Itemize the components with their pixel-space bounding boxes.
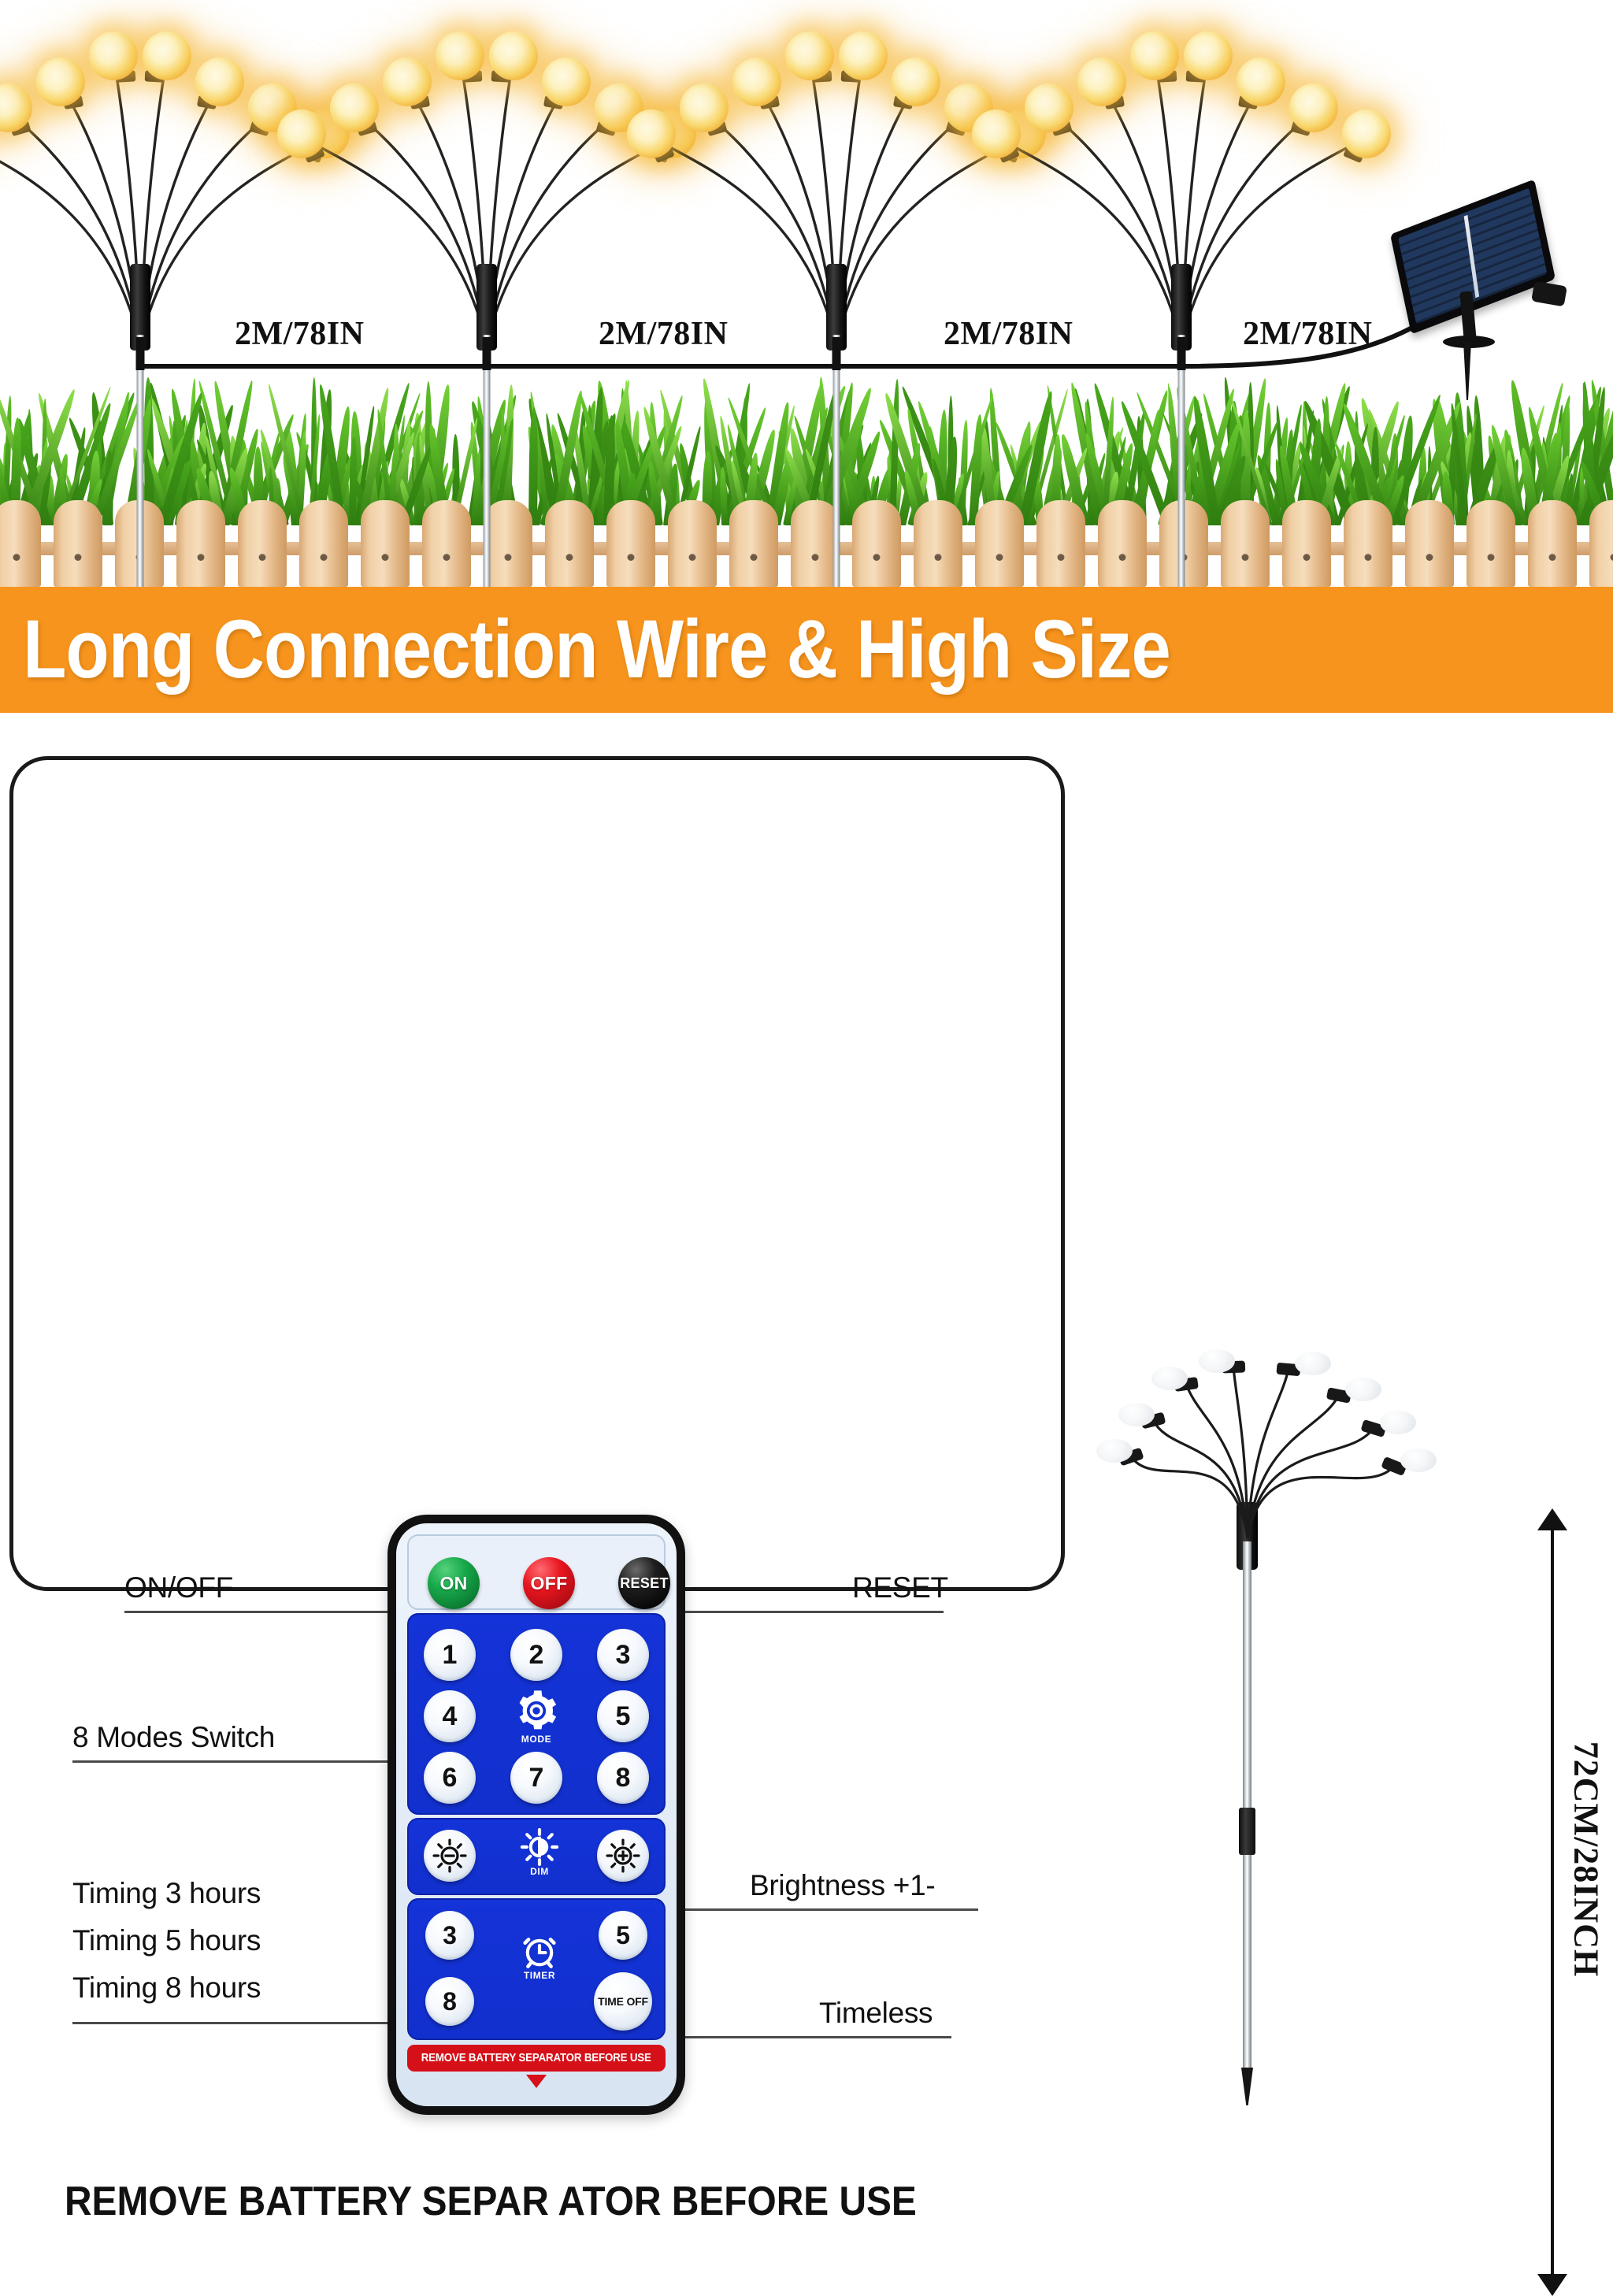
ir-emitter-marker xyxy=(526,2075,547,2088)
fence-picket xyxy=(1467,500,1515,587)
gear-icon xyxy=(514,1689,558,1733)
firefly-bulb xyxy=(972,109,1021,158)
solar-cable-plug xyxy=(1531,281,1567,307)
callout-timing-8: Timing 8 hours xyxy=(72,1971,261,2005)
callout-timing-3: Timing 3 hours xyxy=(72,1877,261,1910)
timer-group: 3 5 8 TIMER TIME OFF xyxy=(407,1898,666,2040)
headline-banner: Long Connection Wire & High Size xyxy=(0,587,1613,713)
stake-pole xyxy=(833,335,840,587)
headline-text: Long Connection Wire & High Size xyxy=(0,603,1170,697)
dim-label: DIM xyxy=(508,1866,571,1877)
bottom-section: ON/OFF 8 Modes Switch Timing 3 hours Tim… xyxy=(0,713,1613,1613)
key-7[interactable]: 7 xyxy=(510,1752,562,1804)
firefly-bulb xyxy=(892,57,940,106)
fence-picket xyxy=(668,500,717,587)
firefly-stake xyxy=(1063,146,1300,587)
timer-label: TIMER xyxy=(508,1970,571,1981)
on-button[interactable]: ON xyxy=(428,1557,480,1609)
timer-key-3[interactable]: 3 xyxy=(425,1911,474,1960)
single-stake-product xyxy=(1087,1335,1418,2131)
dimension-arrow-down-icon xyxy=(1537,2274,1567,2296)
callout-brightness: Brightness +1- xyxy=(750,1869,935,1902)
remote-control[interactable]: ON OFF RESET 1 2 3 4 MODE 5 6 7 xyxy=(387,1515,685,2115)
firefly-stake xyxy=(369,146,605,587)
key-3[interactable]: 3 xyxy=(597,1629,649,1681)
firefly-bulb xyxy=(839,32,888,80)
product-bulb xyxy=(1400,1448,1437,1472)
lead-brightness xyxy=(658,1908,978,1911)
product-bulb xyxy=(1199,1349,1235,1373)
mode-label: MODE xyxy=(505,1734,568,1745)
timer-key-5[interactable]: 5 xyxy=(599,1911,647,1960)
product-bulb xyxy=(1118,1403,1155,1426)
firefly-bulb xyxy=(143,32,191,80)
firefly-bulb xyxy=(1342,109,1391,158)
brightness-up-button[interactable] xyxy=(597,1830,649,1882)
firefly-bulb xyxy=(680,83,729,132)
product-bulb xyxy=(1096,1439,1133,1463)
timer-button[interactable]: TIMER xyxy=(508,1931,571,1981)
dim-icon xyxy=(520,1827,559,1867)
bottom-caption: REMOVE BATTERY SEPAR ATOR BEFORE USE xyxy=(65,2178,917,2225)
product-bulb xyxy=(1151,1367,1188,1390)
stake-pole xyxy=(1178,335,1185,587)
fence-picket xyxy=(1344,500,1392,587)
firefly-bulb xyxy=(1289,83,1338,132)
dim-button[interactable]: DIM xyxy=(508,1827,571,1877)
solar-panel xyxy=(1386,206,1567,411)
fence-picket xyxy=(975,500,1024,587)
mode-button[interactable]: MODE xyxy=(505,1689,568,1745)
firefly-bulb xyxy=(627,109,676,158)
mode-keypad-group: 1 2 3 4 MODE 5 6 7 8 xyxy=(407,1613,666,1815)
infographic-root: 2M/78IN 2M/78IN 2M/78IN 2M/78IN Long Con… xyxy=(0,0,1613,1613)
firefly-bulb xyxy=(330,83,379,132)
callout-timing-5: Timing 5 hours xyxy=(72,1924,261,1957)
product-bulb xyxy=(1345,1378,1381,1401)
firefly-bulb xyxy=(1184,32,1233,80)
callout-timeless: Timeless xyxy=(819,1997,933,2030)
brightness-up-icon xyxy=(605,1838,641,1874)
height-dimension-label: 72CM/28INCH xyxy=(1567,1741,1607,1978)
firefly-bulb xyxy=(1025,83,1073,132)
callout-on-off: ON/OFF xyxy=(124,1571,233,1604)
key-6[interactable]: 6 xyxy=(424,1752,476,1804)
callout-reset: RESET xyxy=(852,1571,948,1604)
firefly-bulb xyxy=(195,57,244,106)
key-4[interactable]: 4 xyxy=(424,1690,476,1742)
time-off-button[interactable]: TIME OFF xyxy=(594,1972,652,2031)
fence-picket xyxy=(1589,500,1613,587)
fence-picket xyxy=(606,500,655,587)
battery-warning-text: REMOVE BATTERY SEPARATOR BEFORE USE xyxy=(421,2052,651,2064)
key-2[interactable]: 2 xyxy=(510,1629,562,1681)
product-bulb xyxy=(1295,1352,1331,1375)
brightness-down-button[interactable] xyxy=(424,1830,476,1882)
remote-diagram-card xyxy=(9,756,1065,1591)
top-product-scene: 2M/78IN 2M/78IN 2M/78IN 2M/78IN xyxy=(0,0,1613,587)
firefly-bulb xyxy=(542,57,591,106)
product-bulb xyxy=(1380,1411,1416,1434)
dimension-line xyxy=(1551,1527,1554,2277)
firefly-bulb xyxy=(277,109,326,158)
fence-picket xyxy=(1528,500,1577,587)
power-button-group: ON OFF RESET xyxy=(407,1534,666,1610)
stake-pole xyxy=(137,335,144,587)
firefly-stake xyxy=(22,146,258,587)
callout-modes: 8 Modes Switch xyxy=(72,1721,275,1754)
height-dimension: 72CM/28INCH xyxy=(1528,1508,1575,2296)
timer-key-8[interactable]: 8 xyxy=(425,1977,474,2026)
alarm-clock-icon xyxy=(520,1931,559,1971)
firefly-bulb xyxy=(1237,57,1285,106)
fence-picket xyxy=(1405,500,1454,587)
solar-panel-stake xyxy=(1463,342,1471,400)
battery-warning-bar: REMOVE BATTERY SEPARATOR BEFORE USE xyxy=(407,2045,666,2072)
key-5[interactable]: 5 xyxy=(597,1690,649,1742)
firefly-stake xyxy=(718,146,955,587)
reset-button[interactable]: RESET xyxy=(618,1557,670,1609)
stake-pole xyxy=(484,335,491,587)
lead-timeless xyxy=(658,2036,951,2038)
key-1[interactable]: 1 xyxy=(424,1629,476,1681)
key-8[interactable]: 8 xyxy=(597,1752,649,1804)
fence-picket xyxy=(299,500,348,587)
brightness-group: DIM xyxy=(407,1818,666,1895)
firefly-bulb xyxy=(489,32,538,80)
off-button[interactable]: OFF xyxy=(523,1557,575,1609)
brightness-down-icon xyxy=(432,1838,468,1874)
lead-timing xyxy=(72,2022,397,2024)
lead-modes xyxy=(72,1760,397,1763)
